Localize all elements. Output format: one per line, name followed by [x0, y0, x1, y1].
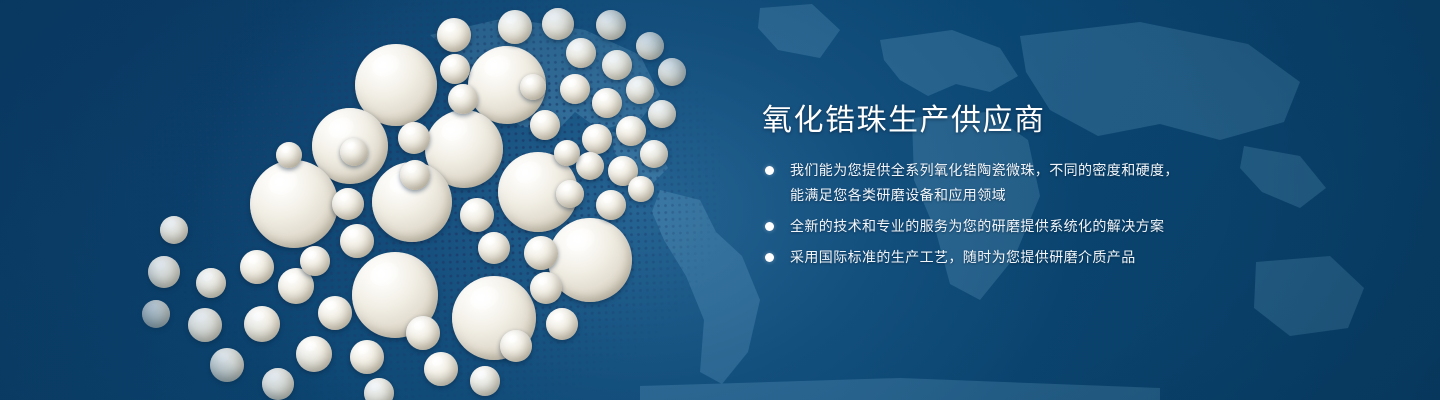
list-item: 全新的技术和专业的服务为您的研磨提供系统化的解决方案: [762, 215, 1282, 237]
list-item-line: 全新的技术和专业的服务为您的研磨提供系统化的解决方案: [790, 215, 1282, 237]
list-item-line: 能满足您各类研磨设备和应用领域: [790, 184, 1282, 206]
bead-cluster: [0, 0, 720, 400]
list-item: 采用国际标准的生产工艺，随时为您提供研磨介质产品: [762, 246, 1282, 268]
bullet-dot-icon: [765, 253, 774, 262]
product-photo-zirconia-beads: [0, 0, 720, 400]
hero-banner: 氧化锆珠生产供应商 我们能为您提供全系列氧化锆陶瓷微珠，不同的密度和硬度， 能满…: [0, 0, 1440, 400]
list-item: 我们能为您提供全系列氧化锆陶瓷微珠，不同的密度和硬度， 能满足您各类研磨设备和应…: [762, 159, 1282, 206]
feature-list: 我们能为您提供全系列氧化锆陶瓷微珠，不同的密度和硬度， 能满足您各类研磨设备和应…: [762, 159, 1282, 268]
bullet-dot-icon: [765, 222, 774, 231]
list-item-line: 我们能为您提供全系列氧化锆陶瓷微珠，不同的密度和硬度，: [790, 159, 1282, 181]
list-item-line: 采用国际标准的生产工艺，随时为您提供研磨介质产品: [790, 246, 1282, 268]
banner-content: 氧化锆珠生产供应商 我们能为您提供全系列氧化锆陶瓷微珠，不同的密度和硬度， 能满…: [762, 104, 1282, 268]
page-title: 氧化锆珠生产供应商: [762, 104, 1282, 137]
bullet-dot-icon: [765, 166, 774, 175]
